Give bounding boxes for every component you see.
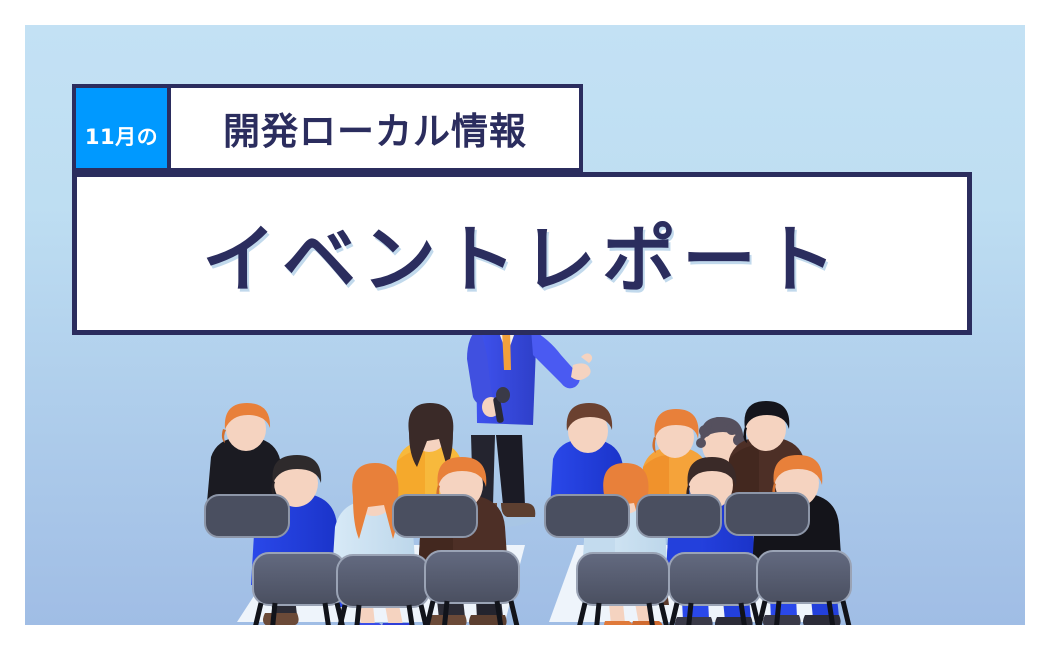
chair-right-back-1 <box>545 495 629 537</box>
poster-canvas: 11月の 開発ローカル情報 イベントレポート <box>0 0 1050 650</box>
month-badge-label: 11月の <box>85 121 158 151</box>
audience-right-group <box>545 401 853 625</box>
month-badge: 11月の <box>72 84 167 172</box>
subtitle-box: 開発ローカル情報 <box>167 84 583 172</box>
subtitle-label: 開発ローカル情報 <box>223 101 527 155</box>
chair-right-back-3 <box>725 493 809 535</box>
header-row: 11月の 開発ローカル情報 <box>72 84 583 172</box>
chair-left-back-1 <box>205 495 289 537</box>
chair-right-back-2 <box>637 495 721 537</box>
main-title-box: イベントレポート <box>72 172 972 335</box>
page-title: イベントレポート <box>202 200 842 307</box>
chair-left-back-2 <box>393 495 477 537</box>
